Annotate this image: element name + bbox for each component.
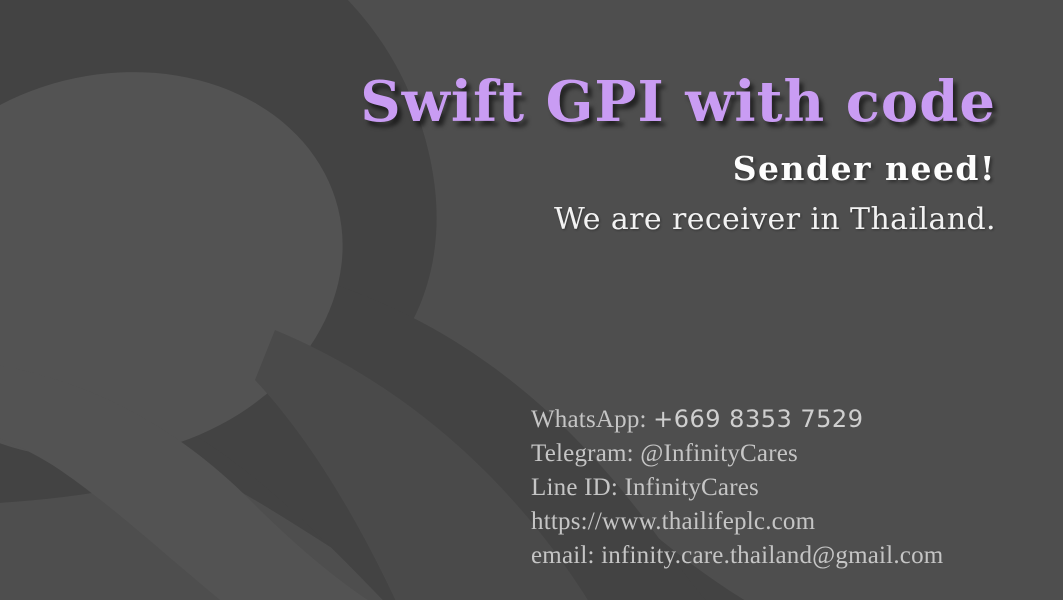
contact-label-whatsapp: WhatsApp:	[531, 406, 647, 433]
contact-label-email: email:	[531, 542, 595, 569]
contact-value-email[interactable]: infinity.care.thailand@gmail.com	[601, 542, 943, 569]
contact-value-website[interactable]: https://www.thailifeplc.com	[531, 508, 815, 535]
slide-content: Swift GPI with code Sender need! We are …	[0, 0, 1063, 600]
contact-label-telegram: Telegram:	[531, 440, 634, 467]
contact-block: WhatsApp: +669 8353 7529 Telegram: @Infi…	[531, 402, 943, 573]
tagline: We are receiver in Thailand.	[0, 205, 996, 235]
headline-block: Swift GPI with code Sender need! We are …	[0, 74, 996, 235]
contact-line-telegram: Telegram: @InfinityCares	[531, 437, 943, 471]
contact-value-whatsapp[interactable]: +669 8353 7529	[653, 405, 863, 433]
contact-line-lineid: Line ID: InfinityCares	[531, 471, 943, 505]
contact-line-email: email: infinity.care.thailand@gmail.com	[531, 539, 943, 573]
contact-value-lineid[interactable]: InfinityCares	[624, 474, 759, 501]
contact-label-lineid: Line ID:	[531, 474, 618, 501]
contact-value-telegram[interactable]: @InfinityCares	[640, 440, 798, 467]
subtitle: Sender need!	[0, 152, 996, 185]
page-title: Swift GPI with code	[0, 74, 996, 130]
contact-line-website: https://www.thailifeplc.com	[531, 505, 943, 539]
contact-line-whatsapp: WhatsApp: +669 8353 7529	[531, 402, 943, 437]
slide-canvas: Swift GPI with code Sender need! We are …	[0, 0, 1063, 600]
